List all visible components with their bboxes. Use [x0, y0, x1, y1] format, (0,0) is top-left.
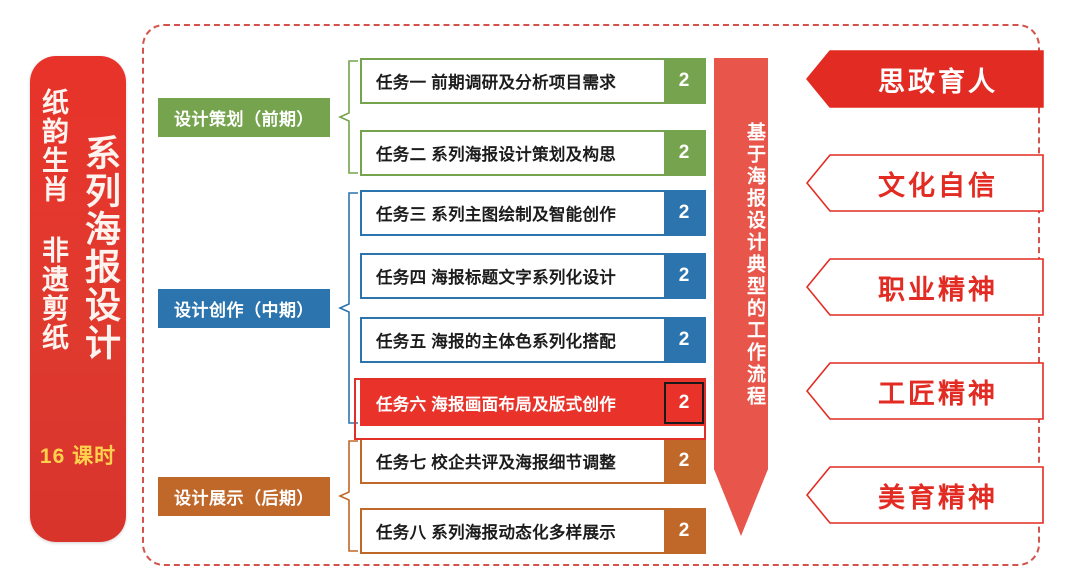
brace-connector-creation: [338, 190, 360, 426]
values-chevron-list: 思政育人 文化自信 职业精神 工匠精神 美育精神: [806, 50, 1050, 540]
task-list-creation: 任务三 系列主图绘制及智能创作 2 任务四 海报标题文字系列化设计 2 任务五 …: [360, 190, 706, 426]
chevron-label: 职业精神: [852, 268, 998, 307]
task-hours-badge: 2: [664, 319, 704, 361]
task-flow-column: 设计策划（前期） 任务一 前期调研及分析项目需求 2 任务二 系列海报设计策划及…: [158, 40, 706, 550]
task-row[interactable]: 任务四 海报标题文字系列化设计 2: [360, 253, 706, 299]
task-row[interactable]: 任务五 海报的主体色系列化搭配 2: [360, 317, 706, 363]
course-title-banner: 纸韵生肖 非遗剪纸 系列海报设计 16 课时: [30, 56, 126, 542]
workflow-arrow-label: 基于海报设计典型的工作流程: [714, 122, 768, 452]
task-list-planning: 任务一 前期调研及分析项目需求 2 任务二 系列海报设计策划及构思 2: [360, 58, 706, 176]
task-hours-badge: 2: [664, 255, 704, 297]
task-list-presentation: 任务七 校企共评及海报细节调整 2 任务八 系列海报动态化多样展示 2: [360, 438, 706, 554]
workflow-arrow-down: 基于海报设计典型的工作流程: [714, 58, 768, 536]
task-title: 任务七 校企共评及海报细节调整: [362, 440, 664, 482]
task-row[interactable]: 任务七 校企共评及海报细节调整 2: [360, 438, 706, 484]
course-hours-label: 16 课时: [30, 440, 126, 470]
stage-label-wrap-planning: 设计策划（前期）: [158, 58, 338, 176]
chevron-label: 工匠精神: [852, 372, 998, 411]
task-title: 任务五 海报的主体色系列化搭配: [362, 319, 664, 361]
task-hours-badge: 2: [664, 192, 704, 234]
chevron-item-1[interactable]: 文化自信: [806, 154, 1044, 212]
task-row[interactable]: 任务二 系列海报设计策划及构思 2: [360, 130, 706, 176]
course-title-vertical: 系列海报设计: [80, 134, 120, 434]
task-title: 任务一 前期调研及分析项目需求: [362, 60, 664, 102]
stage-label-creation[interactable]: 设计创作（中期）: [158, 289, 330, 328]
task-row[interactable]: 任务三 系列主图绘制及智能创作 2: [360, 190, 706, 236]
task-title: 任务三 系列主图绘制及智能创作: [362, 192, 664, 234]
stage-group-planning: 设计策划（前期） 任务一 前期调研及分析项目需求 2 任务二 系列海报设计策划及…: [158, 58, 706, 176]
task-title: 任务八 系列海报动态化多样展示: [362, 510, 664, 552]
chevron-label: 思政育人: [852, 60, 998, 99]
task-hours-badge: 2: [664, 132, 704, 174]
task-row[interactable]: 任务八 系列海报动态化多样展示 2: [360, 508, 706, 554]
chevron-item-2[interactable]: 职业精神: [806, 258, 1044, 316]
task-hours-badge: 2: [664, 60, 704, 102]
chevron-item-0[interactable]: 思政育人: [806, 50, 1044, 108]
task-hours-badge: 2: [664, 510, 704, 552]
stage-label-planning[interactable]: 设计策划（前期）: [158, 98, 330, 137]
task-hours-badge: 2: [664, 440, 704, 482]
brace-connector-presentation: [338, 438, 360, 554]
task-hours-badge: 2: [664, 382, 704, 424]
task-row[interactable]: 任务一 前期调研及分析项目需求 2: [360, 58, 706, 104]
stage-group-presentation: 设计展示（后期） 任务七 校企共评及海报细节调整 2 任务八 系列海报动态化多样…: [158, 438, 706, 554]
stage-label-wrap-presentation: 设计展示（后期）: [158, 438, 338, 554]
chevron-label: 美育精神: [852, 476, 998, 515]
chevron-item-3[interactable]: 工匠精神: [806, 362, 1044, 420]
task-title: 任务二 系列海报设计策划及构思: [362, 132, 664, 174]
stage-group-creation: 设计创作（中期） 任务三 系列主图绘制及智能创作 2 任务四 海报标题文字系列化…: [158, 190, 706, 426]
chevron-label: 文化自信: [852, 164, 998, 203]
brace-connector-planning: [338, 58, 360, 176]
task-row-active[interactable]: 任务六 海报画面布局及版式创作 2: [360, 380, 706, 426]
task-title: 任务六 海报画面布局及版式创作: [362, 382, 664, 424]
course-structure-infographic: 纸韵生肖 非遗剪纸 系列海报设计 16 课时 设计策划（前期） 任务一 前期调研…: [0, 0, 1080, 588]
chevron-item-4[interactable]: 美育精神: [806, 466, 1044, 524]
task-title: 任务四 海报标题文字系列化设计: [362, 255, 664, 297]
stage-label-wrap-creation: 设计创作（中期）: [158, 190, 338, 426]
stage-label-presentation[interactable]: 设计展示（后期）: [158, 477, 330, 516]
course-subtitle-vertical: 纸韵生肖 非遗剪纸: [38, 88, 68, 418]
